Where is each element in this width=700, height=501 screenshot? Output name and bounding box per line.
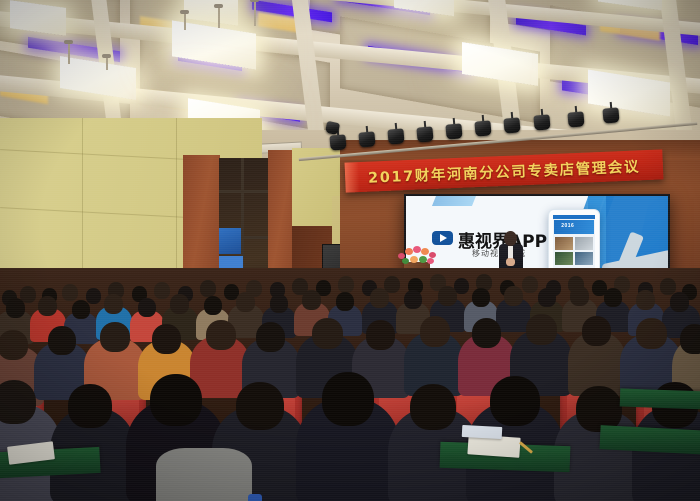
banner-fold (345, 162, 360, 193)
flower-arrangement (396, 244, 440, 266)
app-logo-icon (432, 231, 453, 245)
stage-par-light (602, 107, 619, 123)
stage-par-light (533, 114, 550, 130)
audience-seating-area (0, 268, 700, 501)
coat-on-chair (156, 448, 252, 501)
stage-par-light (358, 131, 375, 147)
notebook (462, 425, 503, 439)
supply-boxes (219, 228, 241, 254)
tablet-screen: 2016 (553, 215, 595, 275)
stage-par-light (416, 126, 433, 142)
tablet-thumb (555, 237, 573, 250)
stage-par-light (387, 128, 404, 144)
tablet-thumb (575, 237, 593, 250)
conference-table-right (620, 388, 700, 409)
presenter-hands (506, 258, 515, 266)
stage-par-light (329, 134, 346, 150)
stage-par-light (474, 120, 491, 136)
tablet-thumb (555, 252, 573, 265)
water-bottle (248, 494, 262, 501)
presenter-head (504, 231, 517, 246)
stage-par-light (567, 111, 584, 127)
tablet-thumb (575, 252, 593, 265)
tablet-hero-banner: 2016 (554, 220, 594, 234)
stage-par-light (445, 123, 462, 139)
conference-photo-scene: 2017财年河南分公司专卖店管理会议 惠视界APP 移动视频商城 (0, 0, 700, 501)
stage-par-light (503, 117, 520, 133)
tablet-hero-label: 2016 (561, 223, 574, 229)
